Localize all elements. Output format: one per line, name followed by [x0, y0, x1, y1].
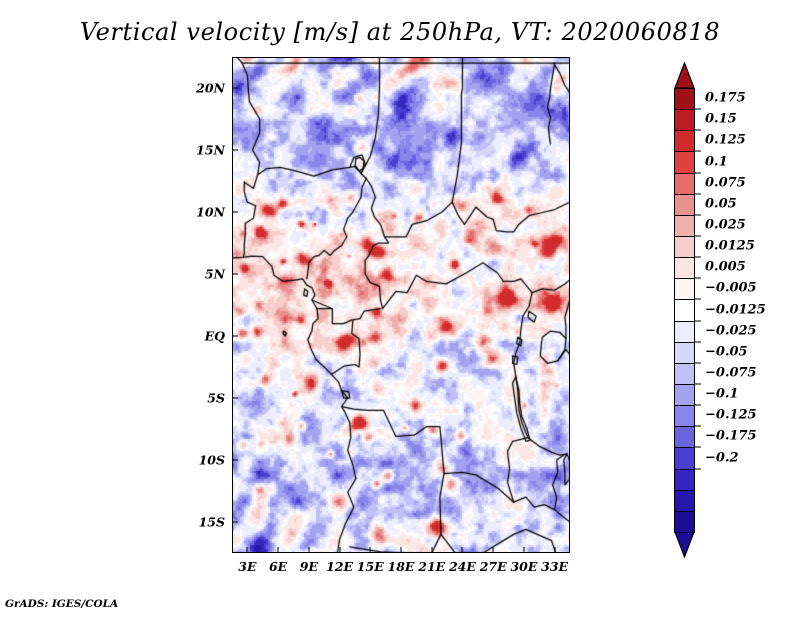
x-axis-tick-mark [401, 547, 402, 553]
x-axis-tick-mark [339, 547, 340, 553]
x-axis-tick-label: 6E [269, 559, 287, 574]
colorbar-tick-label: −0.0125 [705, 302, 766, 317]
x-axis-tick-mark [431, 547, 432, 553]
colorbar-cell [674, 490, 695, 512]
colorbar-min-arrow [674, 532, 695, 558]
y-axis-tick-label: 20N [196, 81, 225, 96]
colorbar-tick-label: 0.125 [705, 133, 746, 148]
colorbar-tick-label: −0.05 [705, 344, 748, 359]
y-axis-tick-label: 5N [205, 267, 225, 282]
y-axis-tick-label: 10N [196, 205, 225, 220]
colorbar-cell [674, 363, 695, 385]
colorbar-tick-mark [695, 130, 701, 131]
y-axis-tick-mark [232, 460, 238, 461]
colorbar-tick-mark [695, 341, 701, 342]
colorbar-tick-label: −0.025 [705, 323, 757, 338]
y-axis-tick-mark [232, 522, 238, 523]
colorbar-cell [674, 194, 695, 216]
colorbar-cell [674, 278, 695, 300]
x-axis-tick-label: 15E [357, 559, 384, 574]
colorbar-tick-mark [695, 214, 701, 215]
x-axis-tick-mark [493, 547, 494, 553]
colorbar-tick-label: −0.175 [705, 429, 757, 444]
x-axis-tick-label: 21E [418, 559, 445, 574]
colorbar-tick-mark [695, 236, 701, 237]
colorbar-tick-label: 0.1 [705, 154, 728, 169]
x-axis-tick-label: 12E [326, 559, 353, 574]
colorbar-tick-mark [695, 109, 701, 110]
x-axis-tick-label: 18E [388, 559, 415, 574]
colorbar-cell [674, 384, 695, 406]
colorbar-cell [674, 88, 695, 110]
colorbar-tick-mark [695, 172, 701, 173]
x-axis-tick-mark [370, 547, 371, 553]
y-axis-tick-mark [232, 88, 238, 89]
x-axis-tick-mark [462, 547, 463, 553]
colorbar-cell [674, 299, 695, 321]
colorbar-cell [674, 151, 695, 173]
colorbar-tick-label: 0.15 [705, 112, 737, 127]
y-axis-tick-mark [232, 212, 238, 213]
colorbar-tick-label: −0.1 [705, 387, 739, 402]
colorbar-cell [674, 342, 695, 364]
y-axis-tick-mark [232, 398, 238, 399]
y-axis-tick-mark [232, 336, 238, 337]
colorbar-tick-mark [695, 468, 701, 469]
x-axis-tick-label: 30E [510, 559, 537, 574]
x-axis-tick-mark [278, 547, 279, 553]
colorbar-tick-label: 0.025 [705, 218, 746, 233]
colorbar-cell [674, 426, 695, 448]
colorbar-tick-label: 0.005 [705, 260, 746, 275]
y-axis-tick-label: 10S [199, 453, 225, 468]
colorbar: 0.1750.150.1250.10.0750.050.0250.01250.0… [674, 62, 695, 558]
colorbar-cell [674, 215, 695, 237]
colorbar-cell [674, 511, 695, 533]
colorbar-cell [674, 130, 695, 152]
x-axis-tick-label: 3E [238, 559, 256, 574]
vertical-velocity-field [232, 57, 570, 553]
colorbar-tick-mark [695, 320, 701, 321]
colorbar-cell [674, 236, 695, 258]
y-axis-tick-label: EQ [205, 329, 225, 344]
y-axis-tick-mark [232, 274, 238, 275]
colorbar-max-arrow [674, 62, 695, 88]
colorbar-tick-mark [695, 193, 701, 194]
colorbar-cell [674, 321, 695, 343]
colorbar-tick-mark [695, 426, 701, 427]
colorbar-tick-mark [695, 257, 701, 258]
colorbar-tick-label: 0.175 [705, 91, 746, 106]
colorbar-tick-mark [695, 151, 701, 152]
colorbar-cell [674, 469, 695, 491]
x-axis-tick-mark [554, 547, 555, 553]
y-axis-tick-mark [232, 150, 238, 151]
y-axis-tick-label: 15N [196, 143, 225, 158]
y-axis-tick-label: 5S [207, 391, 225, 406]
colorbar-tick-label: −0.075 [705, 366, 757, 381]
colorbar-tick-mark [695, 362, 701, 363]
colorbar-tick-label: −0.125 [705, 408, 757, 423]
x-axis-tick-mark [247, 547, 248, 553]
colorbar-tick-mark [695, 405, 701, 406]
credit-label: GrADS: IGES/COLA [5, 598, 118, 610]
colorbar-tick-label: 0.05 [705, 196, 737, 211]
colorbar-tick-mark [695, 299, 701, 300]
colorbar-tick-mark [695, 278, 701, 279]
x-axis-tick-mark [308, 547, 309, 553]
colorbar-tick-mark [695, 447, 701, 448]
colorbar-tick-label: 0.075 [705, 175, 746, 190]
colorbar-cell [674, 257, 695, 279]
colorbar-tick-mark [695, 384, 701, 385]
x-axis-tick-label: 33E [541, 559, 568, 574]
map-plot-area: 20N15N10N5NEQ5S10S15S 3E6E9E12E15E18E21E… [232, 57, 570, 553]
colorbar-tick-label: −0.005 [705, 281, 757, 296]
page-title: Vertical velocity [m/s] at 250hPa, VT: 2… [0, 18, 800, 46]
colorbar-cell [674, 109, 695, 131]
x-axis-tick-label: 27E [480, 559, 507, 574]
colorbar-cell [674, 405, 695, 427]
colorbar-tick-label: 0.0125 [705, 239, 755, 254]
colorbar-cell [674, 447, 695, 469]
x-axis-tick-label: 9E [300, 559, 318, 574]
colorbar-tick-label: −0.2 [705, 450, 739, 465]
y-axis-tick-label: 15S [199, 515, 225, 530]
x-axis-tick-mark [523, 547, 524, 553]
colorbar-cell [674, 173, 695, 195]
x-axis-tick-label: 24E [449, 559, 476, 574]
